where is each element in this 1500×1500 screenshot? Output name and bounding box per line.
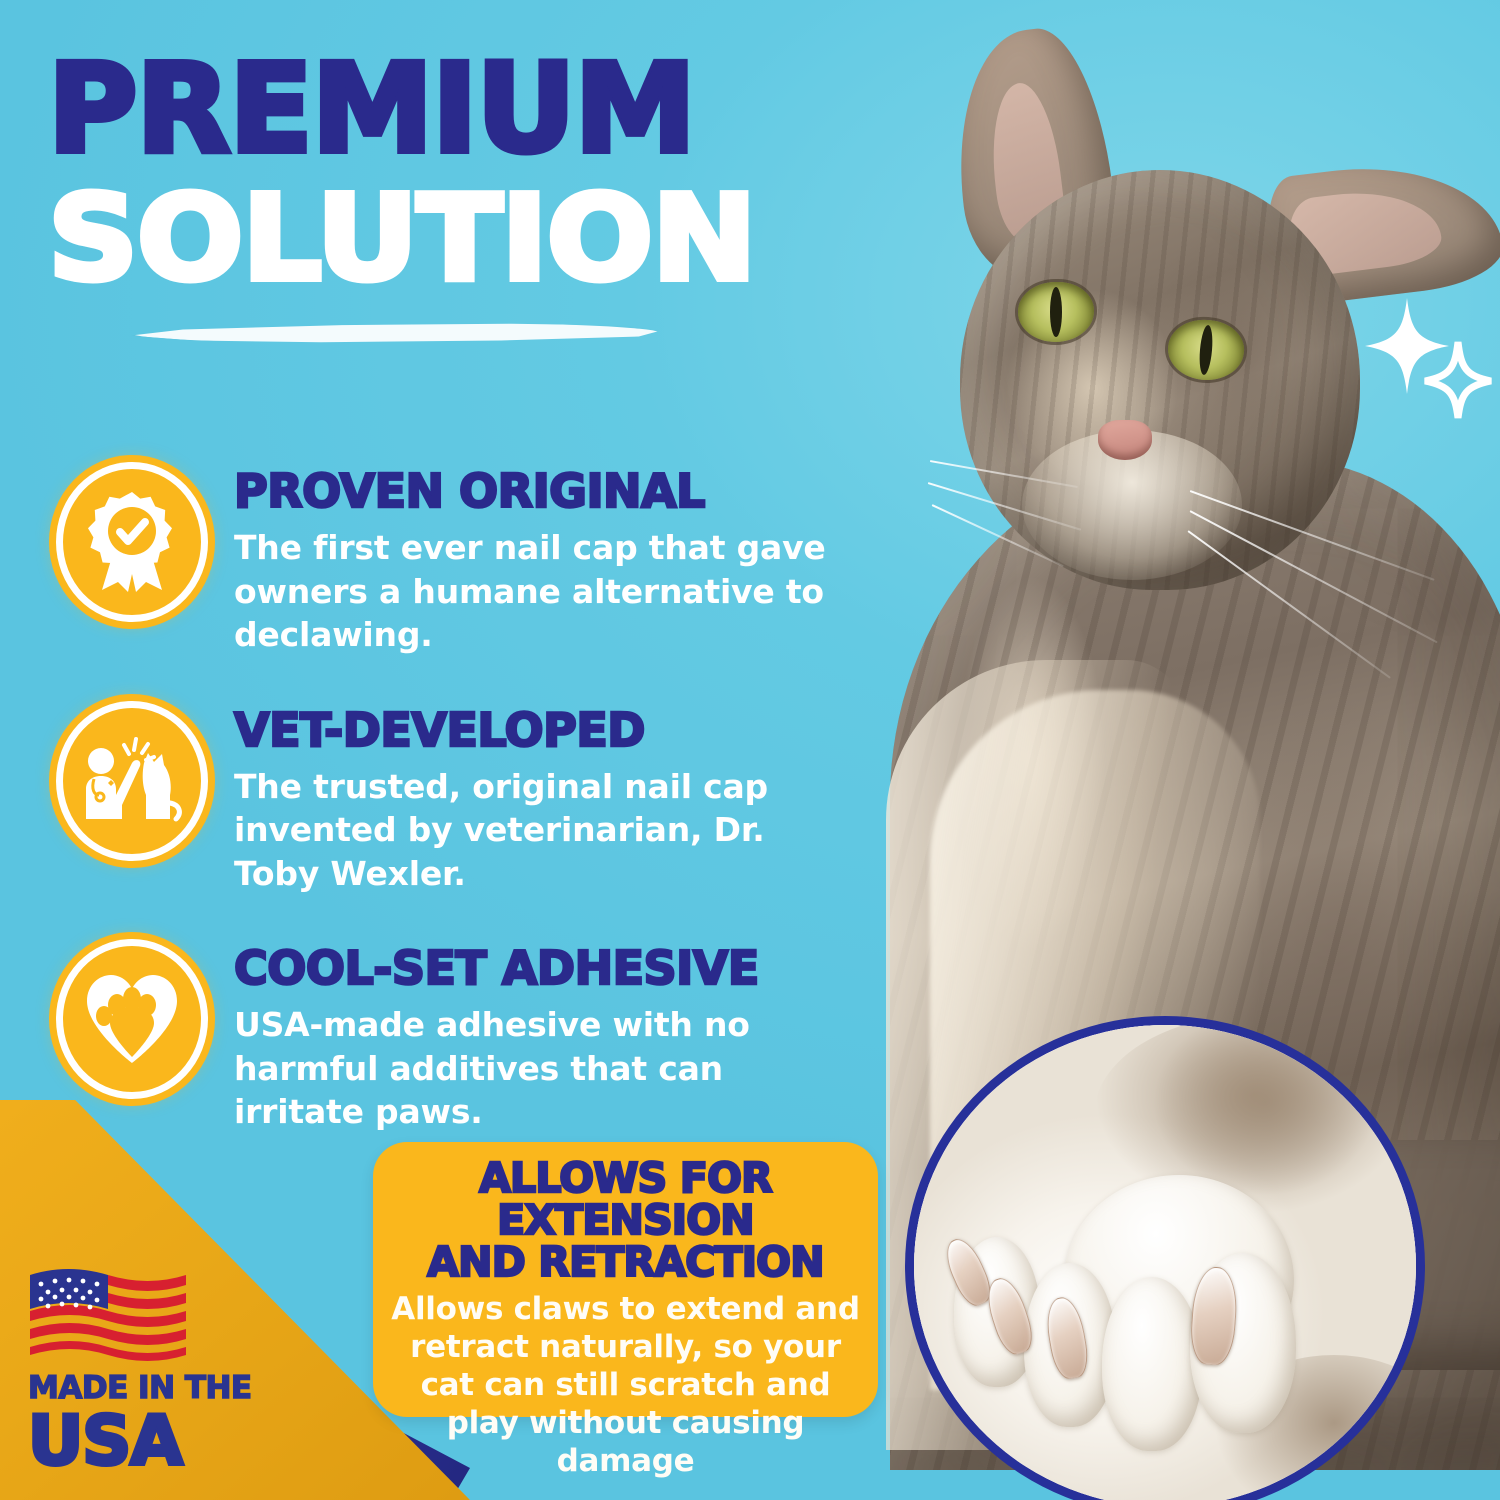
sparkle-stars-icon <box>1355 296 1495 421</box>
feature-text: PROVEN ORIGINAL The first ever nail cap … <box>234 462 856 657</box>
award-ribbon-check-icon <box>56 462 208 622</box>
headline-line-1: PREMIUM <box>48 52 858 168</box>
cat-eye-left <box>1018 282 1094 342</box>
feature-title: VET-DEVELOPED <box>234 707 856 753</box>
feature-text: VET-DEVELOPED The trusted, original nail… <box>234 701 856 896</box>
headline-line-2: SOLUTION <box>48 182 907 294</box>
callout-title-line-1: ALLOWS FOR EXTENSION <box>391 1158 860 1242</box>
feature-title: COOL-SET ADHESIVE <box>234 945 856 991</box>
vet-high-five-cat-icon <box>56 701 208 861</box>
made-in-usa-line-1: MADE IN THE <box>28 1373 268 1404</box>
usa-flag-icon <box>28 1265 188 1361</box>
cat-paw-with-nail-caps-closeup <box>905 1016 1425 1500</box>
paw-toe <box>1102 1277 1202 1451</box>
feature-item-vet-developed: VET-DEVELOPED The trusted, original nail… <box>56 701 856 896</box>
heart-paw-icon <box>56 939 208 1099</box>
product-infographic: PREMIUM SOLUTION PROVEN ORIGINAL The fir… <box>0 0 1500 1500</box>
made-in-usa-badge: MADE IN THE USA <box>28 1265 268 1476</box>
headline-swoosh-divider <box>130 322 660 344</box>
cat-nose <box>1098 420 1152 460</box>
extension-retraction-callout: ALLOWS FOR EXTENSION AND RETRACTION Allo… <box>373 1142 878 1417</box>
callout-description: Allows claws to extend and retract natur… <box>391 1291 860 1480</box>
feature-title: PROVEN ORIGINAL <box>234 468 856 514</box>
feature-description: The trusted, original nail cap invented … <box>234 765 856 896</box>
callout-title-line-2: AND RETRACTION <box>391 1242 860 1284</box>
headline-block: PREMIUM SOLUTION <box>48 52 858 294</box>
feature-list: PROVEN ORIGINAL The first ever nail cap … <box>56 462 856 1178</box>
feature-item-proven-original: PROVEN ORIGINAL The first ever nail cap … <box>56 462 856 657</box>
feature-description: The first ever nail cap that gave owners… <box>234 526 856 657</box>
made-in-usa-line-2: USA <box>28 1408 268 1476</box>
